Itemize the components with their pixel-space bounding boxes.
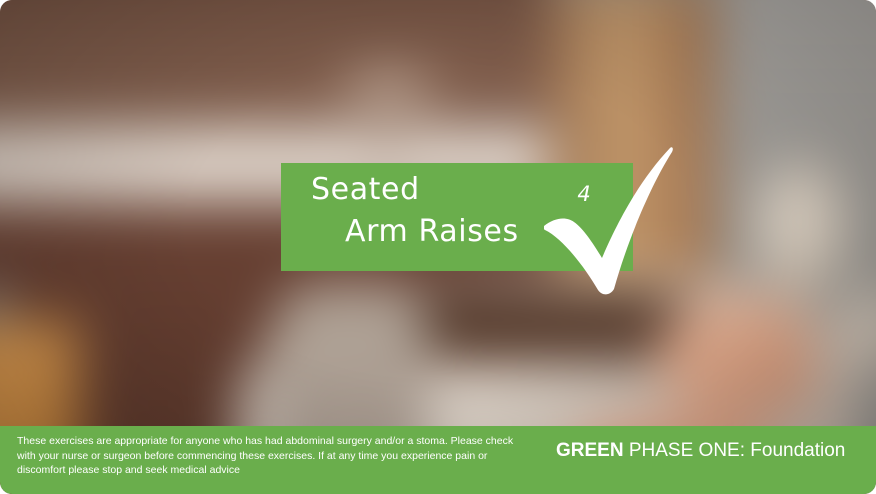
phase-label-rest: PHASE ONE: Foundation — [624, 440, 846, 461]
video-player-frame: Seated Arm Raises 4 These exercises are … — [0, 0, 876, 494]
disclaimer-text: These exercises are appropriate for anyo… — [17, 434, 527, 478]
exercise-title-line-2: Arm Raises — [297, 211, 572, 253]
repetition-count: 4 — [570, 182, 598, 206]
footer-bar: These exercises are appropriate for anyo… — [0, 426, 876, 494]
phase-label: GREEN PHASE ONE: Foundation — [556, 438, 845, 464]
exercise-title-card: Seated Arm Raises — [281, 163, 633, 271]
exercise-title: Seated Arm Raises — [297, 169, 572, 253]
phase-label-emphasis: GREEN — [556, 440, 624, 461]
exercise-title-line-1: Seated — [297, 169, 572, 211]
